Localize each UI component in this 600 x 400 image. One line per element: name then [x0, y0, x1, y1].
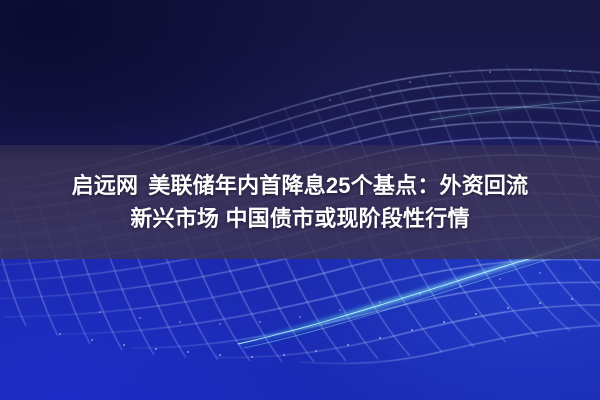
- headline-line-1: 启远网美联储年内首降息25个基点：外资回流: [72, 171, 529, 201]
- headline-block: 启远网美联储年内首降息25个基点：外资回流 新兴市场 中国债市或现阶段性行情: [0, 145, 600, 259]
- headline-line-1-text: 美联储年内首降息25个基点：外资回流: [148, 173, 528, 198]
- headline-line-2: 新兴市场 中国债市或现阶段性行情: [130, 204, 469, 234]
- news-banner-image: 启远网美联储年内首降息25个基点：外资回流 新兴市场 中国债市或现阶段性行情: [0, 0, 600, 400]
- site-name: 启远网: [72, 173, 139, 198]
